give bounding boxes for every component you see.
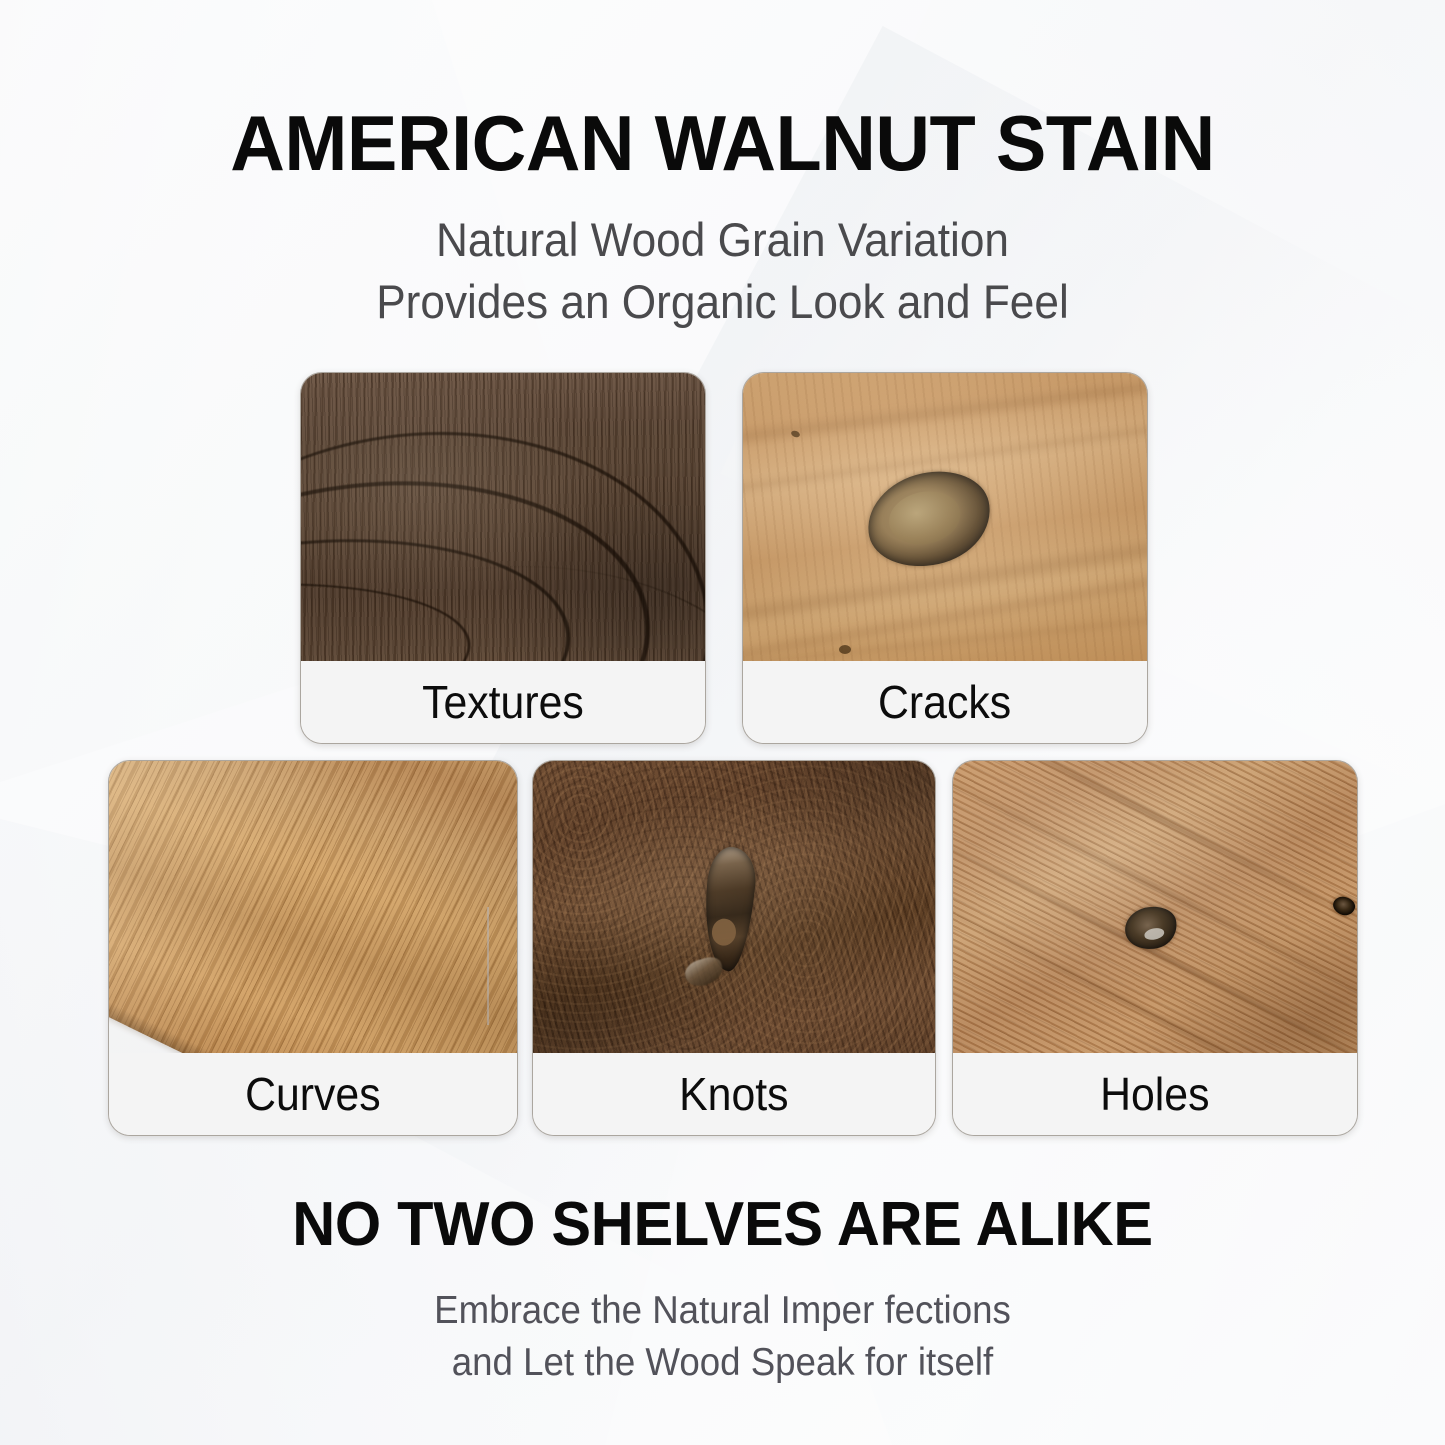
wood-texture-dark-walnut <box>301 373 705 663</box>
feature-card-curves: Curves <box>108 760 518 1136</box>
card-caption-textures: Textures <box>301 661 705 743</box>
wood-photo-curves <box>109 761 517 1055</box>
wood-photo-cracks <box>743 373 1147 663</box>
wood-texture-pale-tan <box>743 373 1147 663</box>
footer-title: NO TWO SHELVES ARE ALIKE <box>29 1194 1416 1256</box>
card-label-textures: Textures <box>422 679 584 725</box>
wood-photo-textures <box>301 373 705 663</box>
infographic-page: AMERICAN WALNUT STAIN Natural Wood Grain… <box>0 0 1445 1445</box>
card-caption-cracks: Cracks <box>743 661 1147 743</box>
card-caption-knots: Knots <box>533 1053 935 1135</box>
feature-card-holes: Holes <box>952 760 1358 1136</box>
footer-subtitle-line-2: and Let the Wood Speak for itself <box>43 1343 1401 1382</box>
page-subtitle-line-2: Provides an Organic Look and Feel <box>43 278 1401 325</box>
feature-card-knots: Knots <box>532 760 936 1136</box>
card-label-holes: Holes <box>1100 1071 1209 1117</box>
page-subtitle-line-1: Natural Wood Grain Variation <box>43 216 1401 263</box>
card-label-cracks: Cracks <box>878 679 1011 725</box>
footer-subtitle-line-1: Embrace the Natural Imper fections <box>43 1291 1401 1330</box>
wood-texture-honey-plank <box>109 761 517 1055</box>
feature-card-textures: Textures <box>300 372 706 744</box>
wood-photo-knots <box>533 761 935 1055</box>
card-label-knots: Knots <box>679 1071 788 1117</box>
wood-photo-holes <box>953 761 1357 1055</box>
feature-card-cracks: Cracks <box>742 372 1148 744</box>
wood-texture-chocolate-walnut <box>533 761 935 1055</box>
card-caption-holes: Holes <box>953 1053 1357 1135</box>
card-label-curves: Curves <box>245 1071 381 1117</box>
card-caption-curves: Curves <box>109 1053 517 1135</box>
page-title: AMERICAN WALNUT STAIN <box>22 104 1424 182</box>
wood-texture-reddish-oak <box>953 761 1357 1055</box>
